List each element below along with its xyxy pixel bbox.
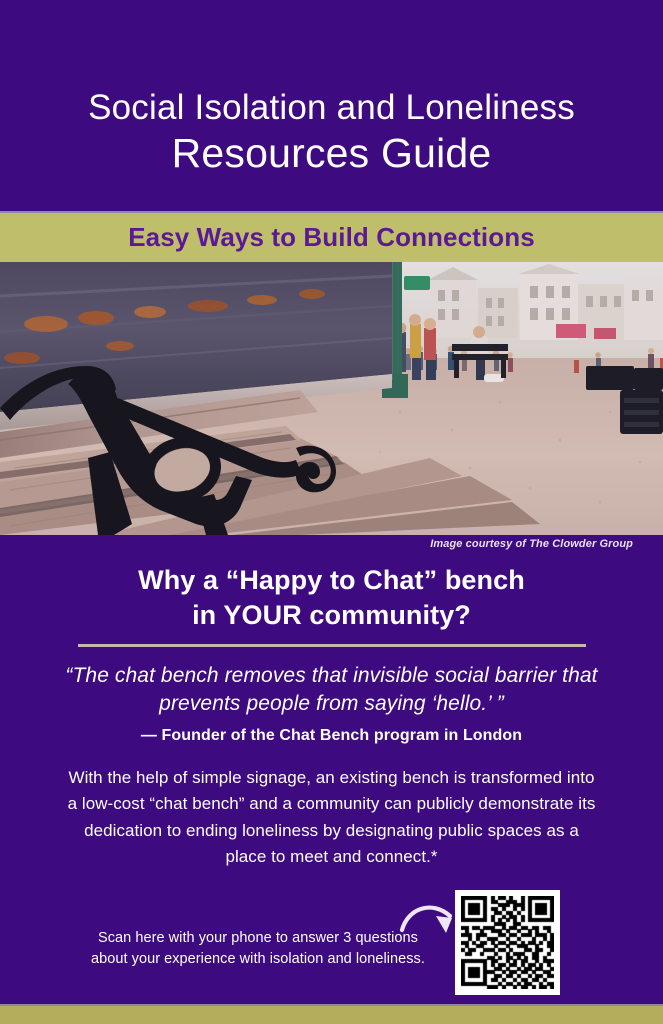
heading-divider — [78, 644, 586, 647]
scan-instructions: Scan here with your phone to answer 3 qu… — [72, 928, 444, 969]
section-heading-line2: in YOUR community? — [0, 598, 663, 633]
subtitle-text: Easy Ways to Build Connections — [128, 222, 535, 253]
poster-header: Social Isolation and Loneliness Resource… — [0, 0, 663, 211]
footer-bar — [0, 1004, 663, 1024]
quote-attribution: — Founder of the Chat Bench program in L… — [60, 727, 603, 745]
body-paragraph: With the help of simple signage, an exis… — [64, 765, 599, 870]
scan-instructions-line2: about your experience with isolation and… — [72, 949, 444, 970]
bench-photo-illustration: THE 'HAPPY TO CHAT' BENCH SIT HERE IF YO… — [0, 262, 663, 535]
photo-credit: Image courtesy of The Clowder Group — [430, 538, 633, 550]
poster-root: Social Isolation and Loneliness Resource… — [0, 0, 663, 1024]
qr-code-canvas[interactable] — [461, 896, 554, 989]
subtitle-band: Easy Ways to Build Connections — [0, 211, 663, 262]
curved-arrow-icon — [398, 896, 460, 942]
page-title-line2: Resources Guide — [172, 130, 492, 177]
section-heading: Why a “Happy to Chat” bench in YOUR comm… — [0, 563, 663, 632]
qr-code[interactable] — [455, 890, 560, 995]
bench-photo: THE 'HAPPY TO CHAT' BENCH SIT HERE IF YO… — [0, 262, 663, 535]
section-heading-line1: Why a “Happy to Chat” bench — [0, 563, 663, 598]
scan-instructions-line1: Scan here with your phone to answer 3 qu… — [72, 928, 444, 949]
pull-quote: “The chat bench removes that invisible s… — [60, 662, 603, 717]
page-title-line1: Social Isolation and Loneliness — [88, 88, 575, 127]
